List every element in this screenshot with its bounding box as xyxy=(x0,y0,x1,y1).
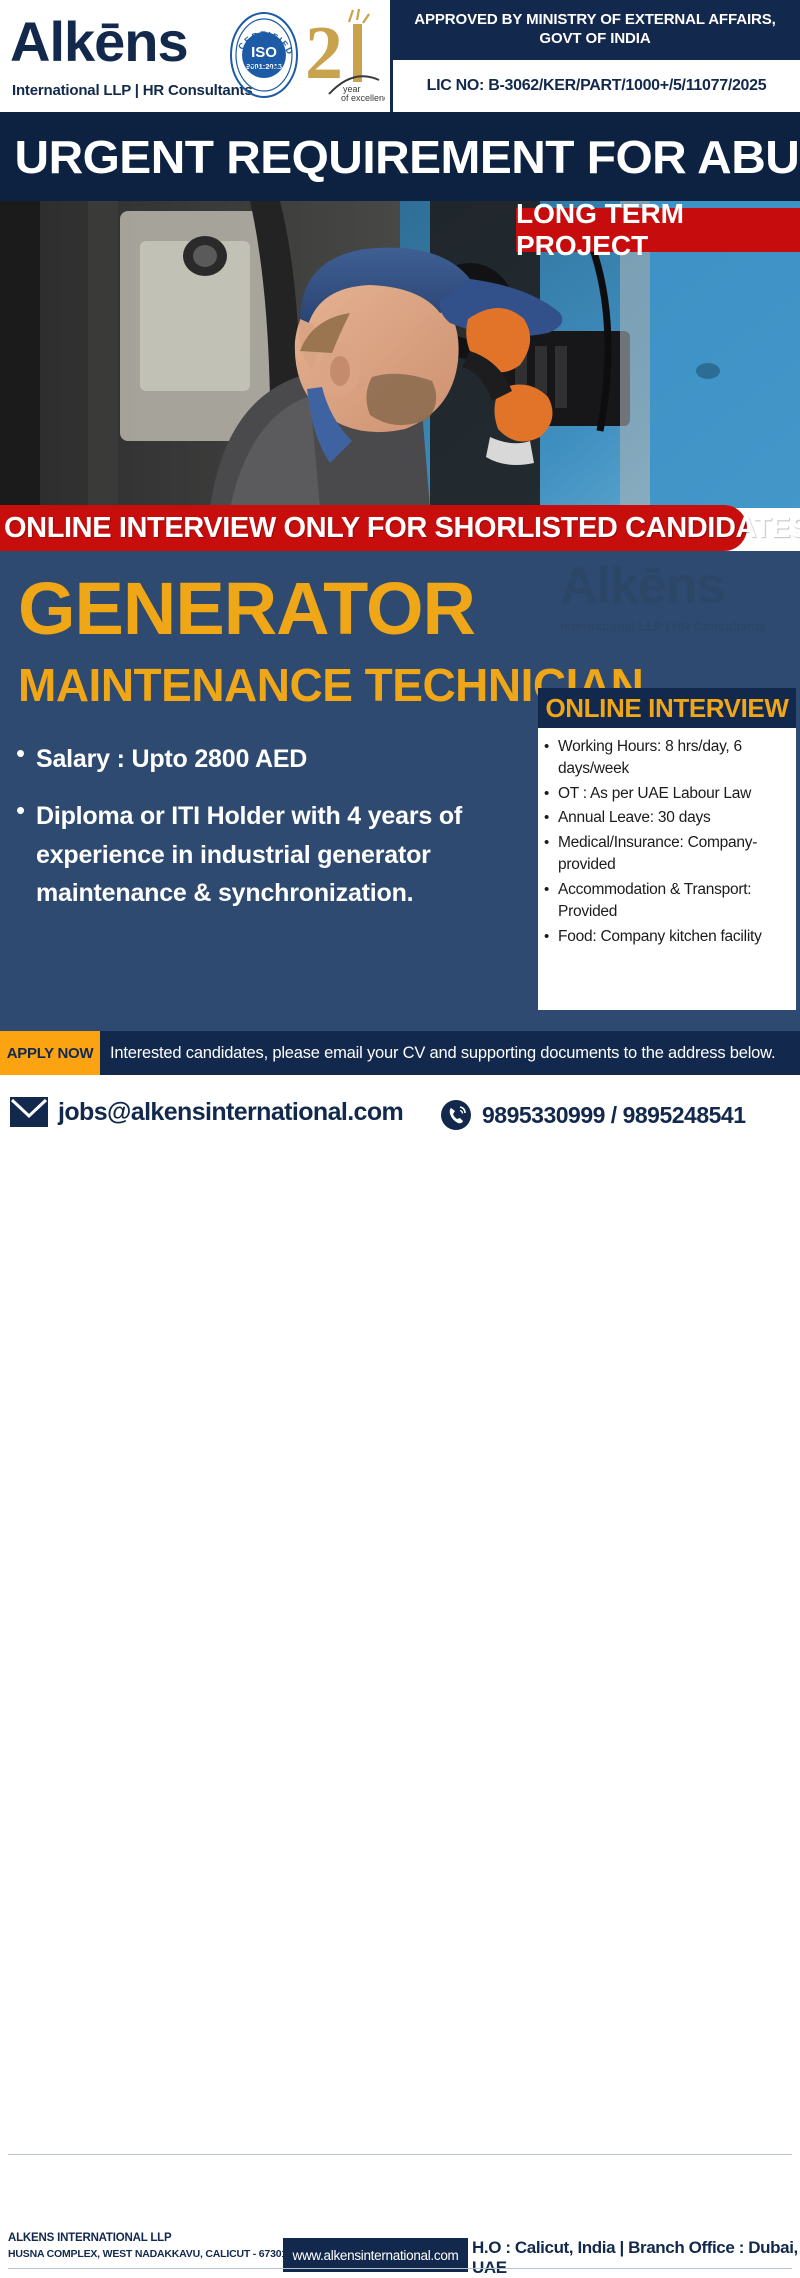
list-item: • OT : As per UAE Labour Law xyxy=(544,783,790,805)
bullet-icon: • xyxy=(544,926,558,948)
list-item: • Accommodation & Transport: Provided xyxy=(544,879,790,924)
footer-top-divider xyxy=(8,2154,792,2155)
svg-text:ISO: ISO xyxy=(251,44,277,61)
header-right-credentials: APPROVED BY MINISTRY OF EXTERNAL AFFAIRS… xyxy=(390,0,800,112)
shortlisted-candidates-banner: ONLINE INTERVIEW ONLY FOR SHORLISTED CAN… xyxy=(0,505,747,551)
apply-now-strip: APPLY NOW Interested candidates, please … xyxy=(0,1031,800,1075)
benefit-text: OT : As per UAE Labour Law xyxy=(558,783,751,805)
envelope-icon xyxy=(10,1097,48,1127)
website-badge[interactable]: www.alkensinternational.com xyxy=(283,2238,468,2272)
bullet-icon: • xyxy=(544,832,558,877)
urgent-requirement-banner: URGENT REQUIREMENT FOR ABU DHABI xyxy=(0,112,800,201)
benefit-text: Working Hours: 8 hrs/day, 6 days/week xyxy=(558,736,790,781)
poster-footer: jobs@alkensinternational.com 9895330999 … xyxy=(0,1075,800,1200)
bullet-icon: • xyxy=(544,879,558,924)
list-item: • Annual Leave: 30 days xyxy=(544,807,790,829)
benefits-list: • Working Hours: 8 hrs/day, 6 days/week … xyxy=(538,728,796,956)
benefit-text: Annual Leave: 30 days xyxy=(558,807,710,829)
license-row: LIC NO: B-3062/KER/PART/1000+/5/11077/20… xyxy=(390,60,800,112)
phone-contact[interactable]: 9895330999 / 9895248541 xyxy=(440,1099,746,1131)
list-item: • Working Hours: 8 hrs/day, 6 days/week xyxy=(544,736,790,781)
long-term-project-badge: LONG TERM PROJECT xyxy=(516,208,800,252)
email-contact[interactable]: jobs@alkensinternational.com xyxy=(10,1097,403,1127)
requirement-text: Diploma or ITI Holder with 4 years of ex… xyxy=(36,797,531,913)
bullet-icon: • xyxy=(544,736,558,781)
bullet-icon: • xyxy=(544,807,558,829)
email-address: jobs@alkensinternational.com xyxy=(58,1098,403,1127)
office-locations: H.O : Calicut, India | Branch Office : D… xyxy=(472,2238,800,2278)
long-term-project-text: LONG TERM PROJECT xyxy=(516,198,800,262)
svg-text:2: 2 xyxy=(305,11,343,95)
requirement-text: Salary : Upto 2800 AED xyxy=(36,740,307,779)
company-logo-wordmark: Alkēns xyxy=(10,14,188,70)
license-number: LIC NO: B-3062/KER/PART/1000+/5/11077/20… xyxy=(427,77,767,95)
apply-instructions-text: Interested candidates, please email your… xyxy=(100,1031,800,1075)
svg-text:of excellence: of excellence xyxy=(341,93,385,103)
urgent-requirement-text: URGENT REQUIREMENT FOR ABU DHABI xyxy=(0,130,800,184)
online-interview-heading: ONLINE INTERVIEW xyxy=(538,688,796,728)
shortlisted-candidates-text: ONLINE INTERVIEW ONLY FOR SHORLISTED CAN… xyxy=(0,512,800,545)
phone-numbers: 9895330999 / 9895248541 xyxy=(482,1102,746,1129)
iso-certified-icon: ISO 9001:2015 CERTIFIED COMPANY xyxy=(228,10,300,100)
job-requirements-list: • Salary : Upto 2800 AED • Diploma or IT… xyxy=(16,740,531,931)
list-item: • Diploma or ITI Holder with 4 years of … xyxy=(16,797,531,913)
header-left-branding: Alkēns International LLP | HR Consultant… xyxy=(0,0,390,112)
poster-header: Alkēns International LLP | HR Consultant… xyxy=(0,0,800,112)
bullet-icon: • xyxy=(16,740,36,779)
list-item: • Food: Company kitchen facility xyxy=(544,926,790,948)
footer-bottom-divider xyxy=(8,2268,792,2269)
apply-now-button[interactable]: APPLY NOW xyxy=(0,1031,100,1075)
bullet-icon: • xyxy=(544,783,558,805)
benefit-text: Medical/Insurance: Company-provided xyxy=(558,832,790,877)
online-interview-panel: ONLINE INTERVIEW • Working Hours: 8 hrs/… xyxy=(538,688,796,1010)
21-years-excellence-icon: 2 year of excellence xyxy=(303,6,385,104)
job-title-primary: GENERATOR xyxy=(18,572,475,646)
bullet-icon: • xyxy=(16,797,36,913)
ministry-approval-text: APPROVED BY MINISTRY OF EXTERNAL AFFAIRS… xyxy=(390,0,800,60)
company-logo-tagline: International LLP | HR Consultants xyxy=(12,82,252,99)
benefit-text: Accommodation & Transport: Provided xyxy=(558,879,790,924)
benefit-text: Food: Company kitchen facility xyxy=(558,926,762,948)
recruitment-poster: Alkēns International LLP | HR Consultant… xyxy=(0,0,800,1200)
phone-icon xyxy=(440,1099,472,1131)
list-item: • Medical/Insurance: Company-provided xyxy=(544,832,790,877)
list-item: • Salary : Upto 2800 AED xyxy=(16,740,531,779)
